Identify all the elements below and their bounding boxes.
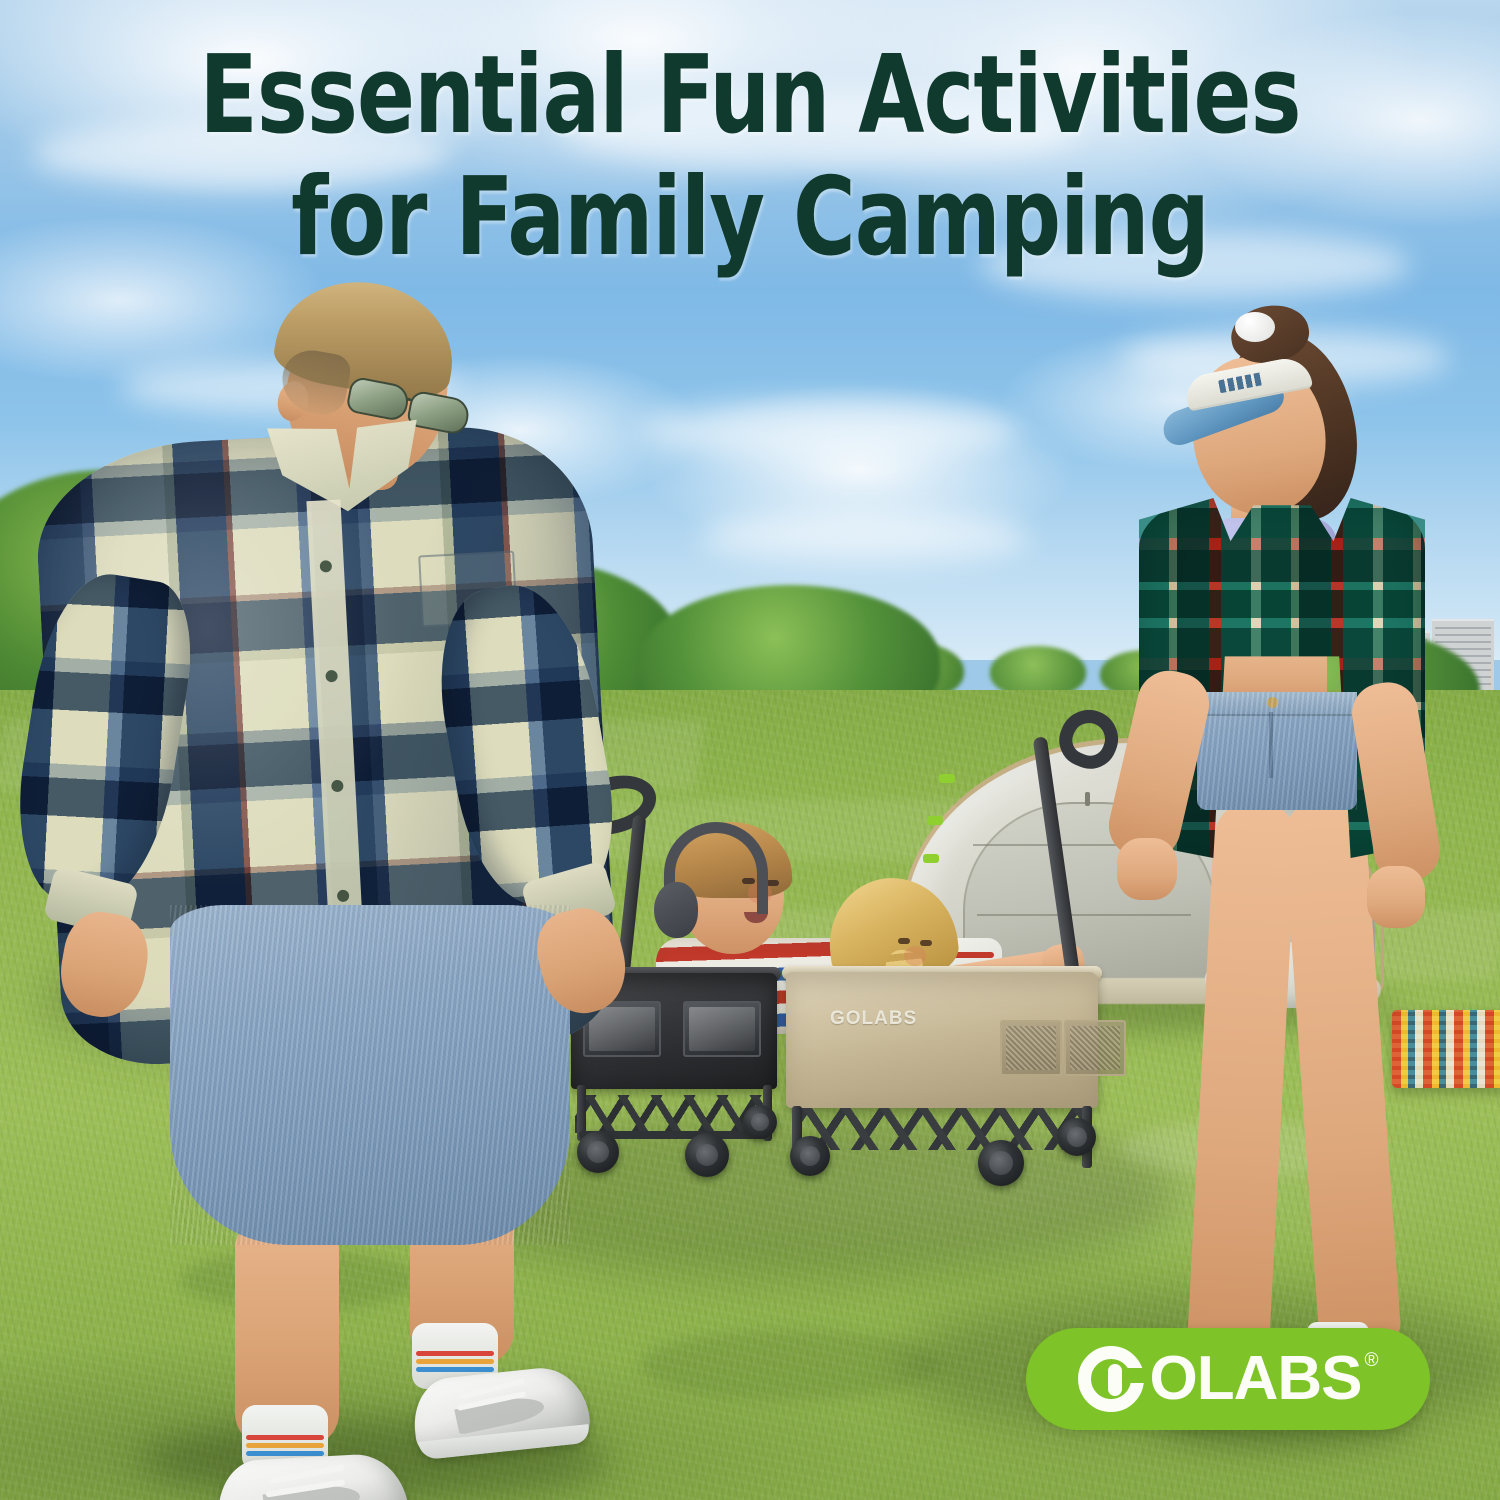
woman-denim-skirt — [1197, 692, 1357, 810]
woman-scrunchie — [1235, 312, 1275, 342]
person-woman — [1115, 310, 1445, 1470]
black-wagon-side-pocket — [683, 1001, 761, 1057]
tan-wagon-wheel — [1058, 1118, 1096, 1156]
tan-wagon-brand-label: GOLABS — [830, 1008, 917, 1030]
tent-tab-icon — [923, 854, 939, 863]
tent-tab-icon — [927, 816, 943, 825]
tan-wagon-x-frame — [792, 1108, 1092, 1150]
black-wagon-wheel — [743, 1105, 777, 1139]
tan-wagon-side-pocket — [1000, 1020, 1062, 1076]
person-man — [20, 285, 660, 1500]
tan-wagon-wheel — [978, 1140, 1024, 1186]
golabs-g-icon — [1078, 1346, 1146, 1412]
woman-left-leg — [1186, 798, 1297, 1362]
camping-poster: GOLABS — [0, 0, 1500, 1500]
product-tan-wagon[interactable]: GOLABS — [782, 948, 1122, 1188]
man-denim-shorts — [170, 905, 570, 1245]
boy-headphone-earcup — [654, 882, 698, 938]
visor-logo-icon — [1218, 372, 1264, 393]
tent-tab-icon — [939, 774, 955, 783]
woman-right-hand — [1367, 866, 1425, 928]
brand-name: OLABS — [1150, 1348, 1362, 1410]
brand-logo-badge: OLABS ® — [1026, 1328, 1430, 1430]
woman-left-hand — [1117, 838, 1177, 900]
registered-trademark-icon: ® — [1365, 1350, 1379, 1372]
black-wagon-wheel — [685, 1133, 729, 1177]
